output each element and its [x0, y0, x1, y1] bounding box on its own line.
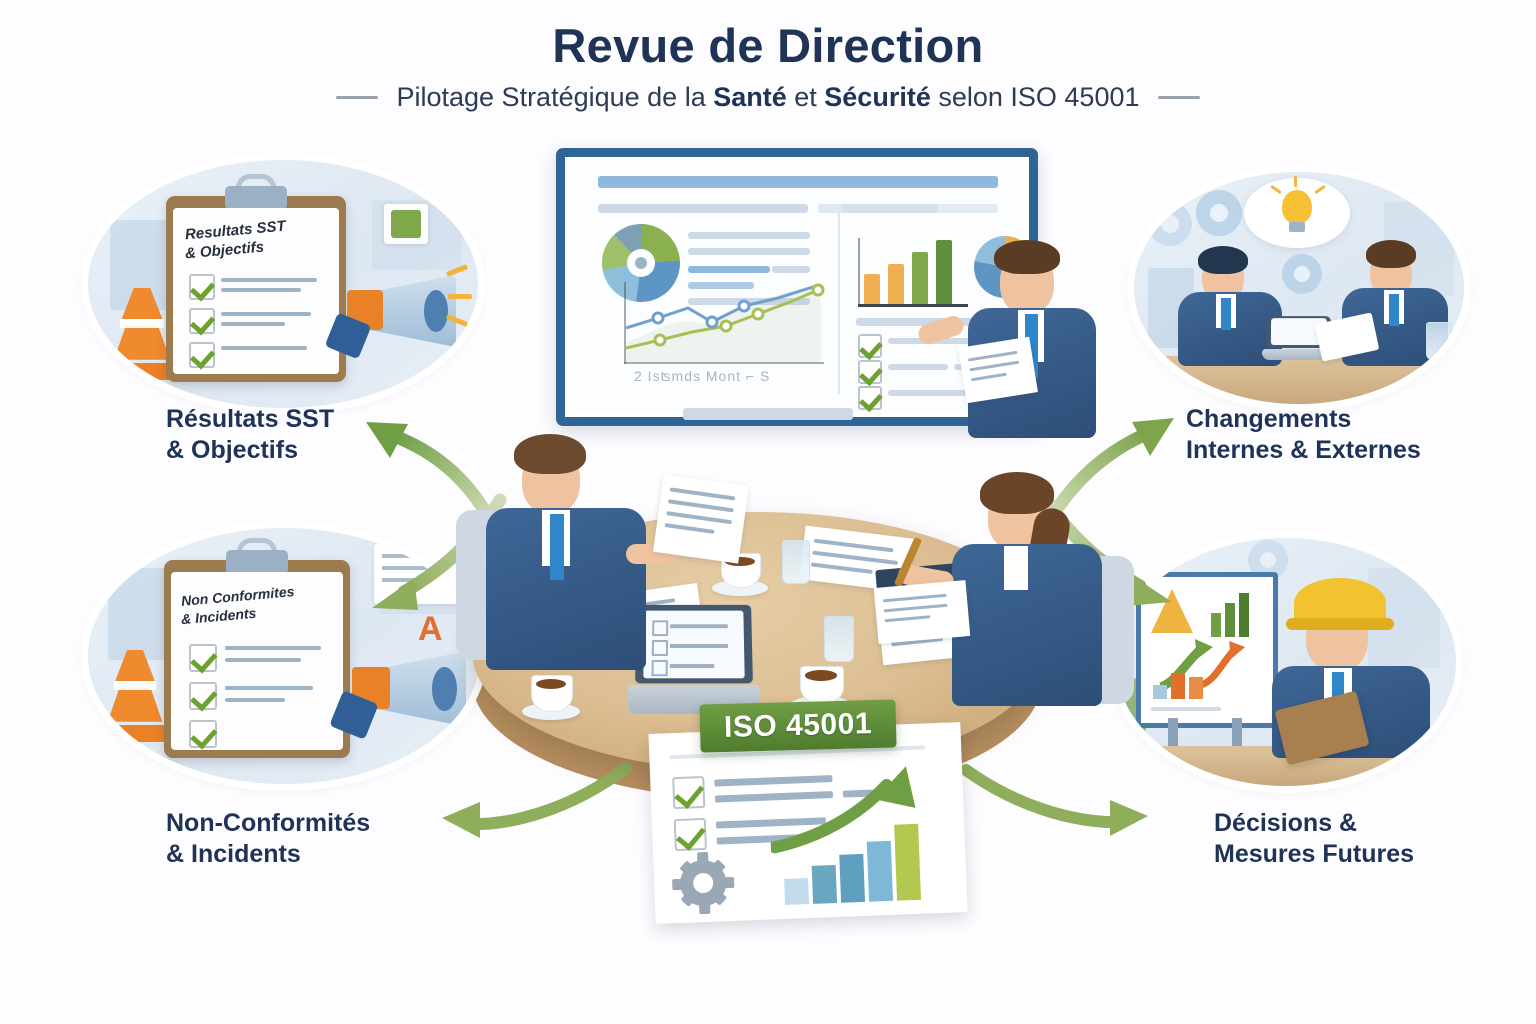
screen-title-bar	[598, 176, 998, 188]
line-chart	[626, 282, 826, 362]
green-growth-arrow-icon	[768, 763, 931, 855]
chart-bar	[936, 240, 952, 304]
checkmark-icon	[189, 342, 215, 368]
screen-stand	[683, 408, 853, 420]
tie	[550, 514, 564, 580]
doc-thumb	[384, 204, 428, 244]
chart-bar	[1225, 603, 1235, 637]
chart-bar	[888, 264, 904, 304]
subtitle-part-2: et	[787, 82, 825, 112]
checkmark-icon	[858, 360, 882, 384]
chart-bar	[784, 878, 809, 905]
chart-bar	[1153, 685, 1167, 699]
gear-icon	[1196, 190, 1242, 236]
checkmark-icon	[189, 274, 215, 300]
text-line	[1151, 707, 1221, 711]
checkmark-icon	[189, 308, 215, 334]
text-line	[221, 278, 317, 282]
chart-bar	[1171, 673, 1185, 699]
subtitle-dash-right	[1158, 96, 1200, 99]
tie	[1221, 298, 1231, 330]
y-axis	[858, 238, 860, 304]
label-decisions: Décisions & Mesures Futures	[1214, 808, 1414, 869]
chart-bar	[1239, 593, 1249, 637]
hair	[994, 240, 1060, 274]
label-non-conformites: Non-Conformités & Incidents	[166, 808, 370, 869]
gear-icon	[1282, 254, 1322, 294]
hair	[1366, 240, 1416, 268]
arrow-bottom-left-curve	[440, 740, 630, 850]
traffic-cone-icon	[104, 650, 166, 742]
screen-divider	[838, 212, 840, 394]
hair	[980, 472, 1054, 514]
hard-hat-brim	[1286, 618, 1394, 630]
x-axis-tick-labels: 2 Isʦmds Mont ⌐ S	[634, 368, 770, 384]
person-at-table-right	[946, 472, 1126, 708]
iso-45001-banner: ISO 45001	[699, 699, 896, 752]
water-glass	[1426, 322, 1452, 360]
megaphone-icon	[320, 644, 466, 734]
document-held	[653, 474, 749, 563]
text-line	[225, 658, 301, 662]
screen-subbar	[598, 204, 808, 213]
lightbulb-base	[1289, 222, 1305, 232]
text-line	[225, 698, 285, 702]
clipboard-clamp	[226, 550, 288, 574]
hair	[514, 434, 586, 474]
checkmark-icon	[672, 776, 705, 809]
orange-up-arrow-icon	[1197, 639, 1261, 691]
traffic-cone-icon	[110, 288, 174, 380]
arrow-bottom-right-curve	[960, 736, 1150, 846]
notepad-held	[874, 580, 971, 644]
subtitle-part-3: selon ISO 45001	[931, 82, 1140, 112]
text-line	[688, 232, 810, 239]
iso-document	[648, 722, 967, 924]
screen-content: 2 Isʦmds Mont ⌐ S	[570, 162, 1024, 412]
checkmark-icon	[674, 818, 707, 851]
x-axis	[624, 362, 824, 364]
globe-icon	[1148, 202, 1192, 246]
chart-bar	[839, 854, 865, 903]
chart-bar	[912, 252, 928, 304]
text-line	[225, 646, 321, 650]
bg-block	[108, 568, 170, 660]
megaphone-icon	[316, 268, 456, 354]
subtitle-bold-securite: Sécurité	[824, 82, 931, 112]
checkmark-icon	[189, 720, 217, 748]
clipboard-page: Non Conformites & Incidents	[171, 572, 343, 750]
subtitle-bold-sante: Santé	[713, 82, 787, 112]
checkmark-icon	[189, 682, 217, 710]
page-subtitle: Pilotage Stratégique de la Santé et Sécu…	[396, 82, 1139, 113]
screen-subbar	[842, 204, 998, 213]
checkmark-icon	[858, 386, 882, 410]
bubble-changements	[1134, 172, 1464, 404]
label-resultats-sst: Résultats SST & Objectifs	[166, 404, 334, 465]
papers-in-hand	[958, 337, 1038, 404]
hair	[1198, 246, 1248, 274]
bar-chart	[858, 238, 968, 304]
text-line	[888, 364, 948, 370]
checkmark-icon	[189, 644, 217, 672]
coffee-cup	[522, 670, 580, 720]
label-changements: Changements Internes & Externes	[1186, 404, 1421, 465]
chart-bar	[1189, 677, 1203, 699]
tie	[1389, 294, 1399, 326]
x-axis	[858, 304, 968, 307]
water-glass	[782, 540, 810, 584]
bubble-resultats-sst: Resultats SST & Objectifs	[88, 160, 478, 408]
gear-icon	[679, 859, 727, 907]
lightbulb-icon	[1282, 190, 1312, 224]
text-line	[688, 266, 770, 273]
chart-bar	[1211, 613, 1221, 637]
subtitle-dash-left	[336, 96, 378, 99]
subtitle-part-1: Pilotage Stratégique de la	[396, 82, 713, 112]
y-axis	[624, 282, 626, 364]
text-line	[221, 346, 307, 350]
text-line	[221, 322, 285, 326]
page-title: Revue de Direction	[0, 18, 1536, 73]
text-line	[221, 312, 311, 316]
chart-bar	[812, 865, 837, 904]
megaphone-mouth	[424, 290, 448, 331]
water-glass	[824, 616, 854, 662]
person-at-table-left	[476, 432, 666, 672]
text-line	[225, 686, 313, 690]
infographic-canvas: Revue de Direction Pilotage Stratégique …	[0, 0, 1536, 1024]
bulb-ray	[1294, 176, 1297, 187]
shirt	[1004, 546, 1028, 590]
clipboard-page: Resultats SST & Objectifs	[173, 208, 339, 374]
text-line	[688, 248, 810, 255]
checkmark-icon	[858, 334, 882, 358]
megaphone-mouth	[432, 667, 457, 710]
subtitle-row: Pilotage Stratégique de la Santé et Sécu…	[0, 82, 1536, 113]
text-line	[772, 266, 810, 273]
chart-bar	[864, 274, 880, 304]
text-line	[221, 288, 301, 292]
sound-ray	[448, 294, 472, 299]
clipboard-clamp	[225, 186, 287, 210]
